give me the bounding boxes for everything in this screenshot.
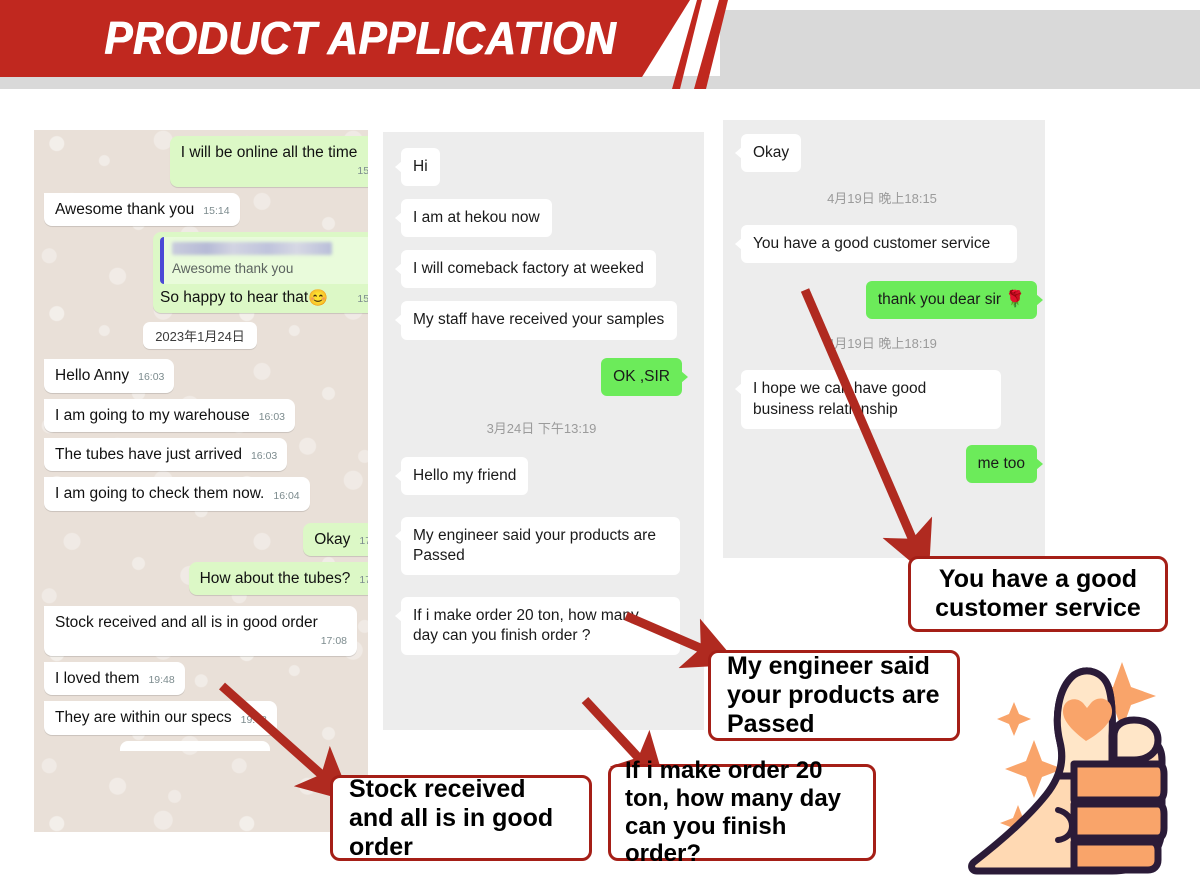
message-text: How about the tubes? [200,569,351,588]
chat-message: Hello my friend [393,457,690,495]
chat-message: The tubes have just arrived 16:03 [40,438,360,471]
message-text: I will be online all the time [181,143,358,162]
message-text: me too [978,455,1025,472]
date-label: 3月24日 下午13:19 [487,418,597,437]
message-text: Okay [314,530,350,549]
chat-bubble-outgoing: me too [966,445,1037,483]
message-time: 15:14 [203,205,229,219]
message-text: I am going to my warehouse [55,406,250,425]
chat-bubble-incoming: Hello Anny 16:03 [44,359,174,392]
callout-text: Stock received and all is in good order [349,775,573,862]
chat-bubble-incoming: Awesome thank you 15:14 [44,193,240,226]
message-text: Stock received and all is in good order [55,613,318,632]
callout-customer-service: You have a good customer service [908,556,1168,632]
message-text: You have a good customer service [753,235,990,252]
chat-date-divider: 4月19日 晚上18:19 [733,333,1031,352]
chat-screenshot-wechat-middle: Hi I am at hekou now I will comeback fac… [383,132,704,730]
quoted-message: Awesome thank you [160,237,368,284]
date-label: 2023年1月24日 [143,322,257,349]
chat-bubble-incoming: If i make order 20 ton, how many day can… [401,597,680,655]
chat-message: I am going to my warehouse 16:03 [40,399,360,432]
chat-message: Awesome thank you 15:14 [40,193,360,226]
chat-date-divider: 2023年1月24日 [40,322,360,349]
chat-bubble-incoming: They are within our specs 19:48 [44,701,277,734]
chat-bubble-incoming: My staff have received your samples [401,301,677,339]
chat-screenshot-wechat-right: Okay 4月19日 晚上18:15 You have a good custo… [723,120,1045,558]
callout-engineer-passed: My engineer said your products are Passe… [708,650,960,741]
chat-bubble-incoming: I hope we can have good business relatio… [741,370,1001,428]
message-time: 16:03 [259,411,285,425]
chat-message: Okay 17: [40,523,360,556]
message-time: 19:48 [241,714,267,728]
page-header: PRODUCT APPLICATION [0,0,1200,90]
message-text: I will comeback factory at weeked [413,260,644,277]
chat-date-divider: 4月19日 晚上18:15 [733,188,1031,207]
knuckle-1 [1114,720,1158,760]
message-text: I am going to check them now. [55,484,264,503]
callout-text: If i make order 20 ton, how many day can… [625,757,859,868]
chat-message: My engineer said your products are Passe… [393,517,690,575]
message-time: 16:03 [138,371,164,385]
date-label: 4月19日 晚上18:15 [827,188,937,207]
message-text: My engineer said your products are Passe… [413,527,656,564]
chat-message-quoted: Awesome thank you So happy to hear that … [40,232,360,313]
chat-message: I loved them 19:48 [40,662,360,695]
callout-stock-received: Stock received and all is in good order [330,775,592,861]
callout-text: My engineer said your products are Passe… [727,652,941,739]
chat-bubble-outgoing: How about the tubes? 17: [189,562,368,595]
callout-text: You have a good customer service [927,565,1149,623]
chat-message: thank you dear sir 🌹 [733,281,1031,319]
quoted-sender-redacted [172,242,332,255]
message-text: thank you dear sir [878,290,1001,310]
message-text: OK ,SIR [613,368,670,385]
chat-message: Hello Anny 16:03 [40,359,360,392]
sparkle-small-1 [997,702,1031,736]
chat-bubble-incoming: You have a good customer service [741,225,1017,263]
smiling-face-emoji: 😊 [308,291,328,307]
message-text: Hi [413,158,428,175]
chat-message: I will be online all the time 15: [40,136,360,187]
chat-bubble-outgoing: I will be online all the time 15: [170,136,368,187]
chat-bubble-incoming: Okay [741,134,801,172]
message-text: I am at hekou now [413,209,540,226]
chat-message: How about the tubes? 17: [40,562,360,595]
date-label: 4月19日 晚上18:19 [827,333,937,352]
chat-bubble-incoming: I am at hekou now [401,199,552,237]
chat-message: OK ,SIR [393,358,690,396]
knuckle-3 [1074,804,1164,838]
chat-message: You have a good customer service [733,225,1031,263]
message-time: 17: [359,574,368,588]
chat-message: Stock received and all is in good order … [40,606,360,656]
chat-bubble-incoming: I am going to check them now. 16:04 [44,477,310,510]
message-text: They are within our specs [55,708,232,727]
rose-emoji: 🌹 [1005,292,1025,308]
page-title: PRODUCT APPLICATION [104,11,616,65]
message-text: Awesome thank you [55,200,194,219]
chat-message: I am going to check them now. 16:04 [40,477,360,510]
message-time: 17:08 [321,635,347,649]
chat-message: If i make order 20 ton, how many day can… [393,597,690,655]
chat-bubble-incoming: The tubes have just arrived 16:03 [44,438,287,471]
message-text: Hello Anny [55,366,129,385]
chat-bubble-incoming: Hello my friend [401,457,528,495]
chat-message: My staff have received your samples [393,301,690,339]
chat-bubble-incoming: My engineer said your products are Passe… [401,517,680,575]
message-text: My staff have received your samples [413,311,664,328]
header-gray-panel [720,10,1200,89]
chat-bubble-outgoing: thank you dear sir 🌹 [866,281,1037,319]
message-time: 16:04 [273,490,299,504]
quoted-message-text: Awesome thank you [172,261,364,278]
chat-message: I am at hekou now [393,199,690,237]
message-time: 15: [181,165,368,179]
chat-bubble-incoming: I am going to my warehouse 16:03 [44,399,295,432]
chat-bubble-incoming: Stock received and all is in good order … [44,606,357,656]
message-time: 17: [359,535,368,549]
chat-bubble-incoming-clipped [120,741,270,751]
message-text: Hello my friend [413,467,516,484]
message-text: If i make order 20 ton, how many day can… [413,607,639,644]
chat-message: me too [733,445,1031,483]
callout-order-question: If i make order 20 ton, how many day can… [608,764,876,861]
chat-message: Okay [733,134,1031,172]
chat-message: I will comeback factory at weeked [393,250,690,288]
chat-screenshot-whatsapp: I will be online all the time 15: Awesom… [34,130,368,832]
chat-message: They are within our specs 19:48 [40,701,360,734]
message-time: 15: [357,293,368,307]
message-text: I hope we can have good business relatio… [753,380,926,417]
knuckle-2 [1074,764,1164,800]
message-time: 19:48 [148,674,174,688]
chat-message: I hope we can have good business relatio… [733,370,1031,428]
chat-bubble-outgoing: Awesome thank you So happy to hear that … [153,232,368,313]
chat-date-divider: 3月24日 下午13:19 [393,418,690,437]
message-text: Okay [753,144,789,161]
message-text: The tubes have just arrived [55,445,242,464]
chat-bubble-incoming: I will comeback factory at weeked [401,250,656,288]
message-text: So happy to hear that [160,288,308,307]
message-time: 16:03 [251,450,277,464]
chat-bubble-outgoing: OK ,SIR [601,358,682,396]
chat-bubble-incoming: I loved them 19:48 [44,662,185,695]
chat-bubble-incoming: Hi [401,148,440,186]
chat-message-partial [40,741,360,751]
thumbs-up-icon [962,640,1194,880]
knuckle-4 [1074,842,1158,870]
chat-bubble-outgoing: Okay 17: [303,523,368,556]
chat-message: Hi [393,148,690,186]
message-text: I loved them [55,669,139,688]
